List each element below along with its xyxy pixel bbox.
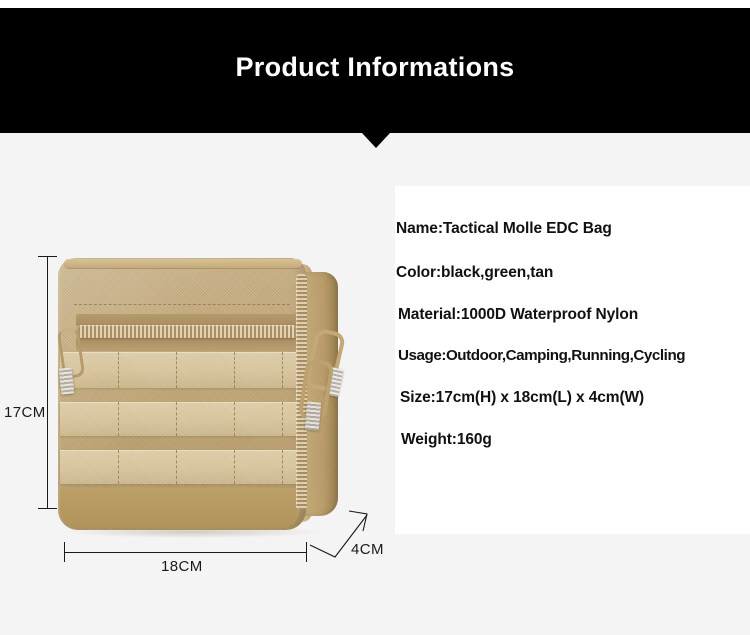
banner-triangle-notch-icon <box>362 133 390 148</box>
spec-item-color: Color:black,green,tan <box>396 264 553 282</box>
width-dimension-cap-left <box>64 542 65 562</box>
top-white-strip <box>0 0 750 8</box>
molle-stitch-divider <box>234 402 235 436</box>
spec-item-size: Size:17cm(H) x 18cm(L) x 4cm(W) <box>400 389 644 407</box>
width-dimension-line <box>64 552 307 553</box>
molle-stitch-divider <box>176 450 177 484</box>
width-dimension-label: 18CM <box>161 558 203 575</box>
spec-item-name: Name:Tactical Molle EDC Bag <box>396 220 612 238</box>
zipper-tape-lower <box>76 338 298 351</box>
molle-stitch-divider <box>118 402 119 436</box>
molle-stitch-divider <box>234 352 235 388</box>
bag-lid-stitching <box>74 304 290 305</box>
molle-stitch-divider <box>176 402 177 436</box>
molle-stitch-divider <box>282 402 283 436</box>
specification-panel: Name:Tactical Molle EDC Bag Color:black,… <box>395 186 750 534</box>
main-zipper-icon <box>78 325 296 338</box>
bag-top-seam <box>64 259 302 268</box>
molle-stitch-divider <box>118 352 119 388</box>
header-banner: Product Informations <box>0 8 750 133</box>
depth-dimension-label: 4CM <box>351 541 384 558</box>
height-dimension-line <box>47 256 48 509</box>
spec-item-usage: Usage:Outdoor,Camping,Running,Cycling <box>398 347 685 364</box>
product-info-page: Product Informations <box>0 0 750 635</box>
zipper-pull-tab-right-lower <box>305 401 321 430</box>
molle-stitch-divider <box>282 352 283 388</box>
height-dimension-cap-top <box>38 256 57 257</box>
molle-stitch-divider <box>118 450 119 484</box>
specification-list: Name:Tactical Molle EDC Bag Color:black,… <box>395 186 750 534</box>
molle-webbing-row <box>60 352 298 388</box>
bag-bottom-panel <box>60 488 300 528</box>
height-dimension-cap-bottom <box>38 508 57 509</box>
page-title: Product Informations <box>0 52 750 83</box>
spec-item-weight: Weight:160g <box>401 431 492 449</box>
molle-stitch-divider <box>282 450 283 484</box>
zipper-pull-tab-left <box>59 367 75 394</box>
molle-webbing-row <box>60 450 298 484</box>
height-dimension-label: 17CM <box>4 404 46 421</box>
molle-stitch-divider <box>176 352 177 388</box>
molle-webbing-row <box>60 402 298 436</box>
spec-item-material: Material:1000D Waterproof Nylon <box>398 306 638 324</box>
molle-stitch-divider <box>234 450 235 484</box>
product-image <box>52 250 342 542</box>
